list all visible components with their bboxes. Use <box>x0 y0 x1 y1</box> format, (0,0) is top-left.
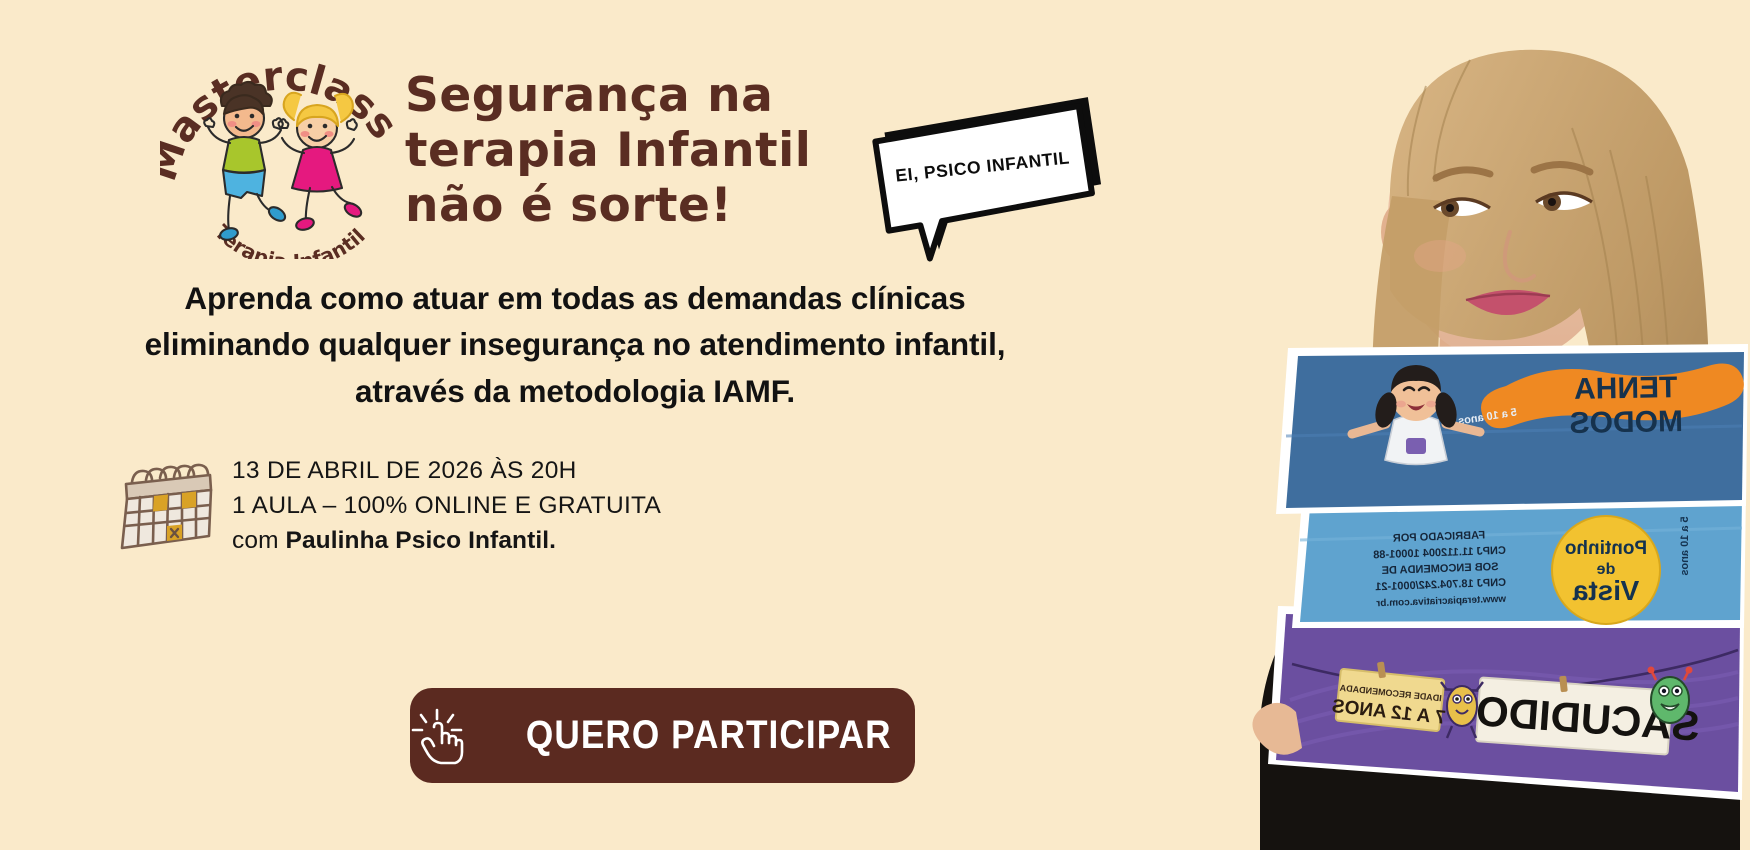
headline-line-3: não é sorte! <box>405 178 875 233</box>
landing-page-banner: Masterclass Terapia Infantil <box>0 0 1750 850</box>
subheading: Aprenda como atuar em todas as demandas … <box>70 275 1080 414</box>
cta-label: QUERO PARTICIPAR <box>526 713 892 758</box>
tenha-modos-box: TENHA MODOS 5 a 10 anos <box>1276 344 1748 514</box>
svg-text:Vista: Vista <box>1572 575 1639 606</box>
headline-line-1: Segurança na <box>405 68 875 123</box>
event-host: com Paulinha Psico Infantil. <box>232 524 661 559</box>
masterclass-logo: Masterclass Terapia Infantil <box>160 44 410 259</box>
subheading-line-2: eliminando qualquer insegurança no atend… <box>70 321 1080 367</box>
calendar-highlight-cell-1 <box>153 495 168 512</box>
calendar-icon <box>110 460 214 552</box>
page-title: Segurança na terapia Infantil não é sort… <box>405 68 875 233</box>
logo-girl-figure <box>279 93 364 232</box>
woman-holding-game-boxes-photo: IDADE RECOMENDADA 7 A 12 ANOS SACUDIDOS <box>1140 0 1750 850</box>
logo-arc-bottom-text: Terapia Infantil <box>210 220 370 259</box>
svg-text:MODOS: MODOS <box>1569 405 1683 440</box>
svg-text:TENHA: TENHA <box>1574 371 1678 406</box>
event-host-name: Paulinha Psico Infantil. <box>286 527 557 554</box>
subheading-line-1: Aprenda como atuar em todas as demandas … <box>70 275 1080 321</box>
subheading-line-3: através da metodologia IAMF. <box>70 368 1080 414</box>
svg-text:Pontinho: Pontinho <box>1565 538 1647 559</box>
quero-participar-button[interactable]: QUERO PARTICIPAR <box>410 688 915 783</box>
event-host-prefix: com <box>232 527 286 554</box>
calendar-highlight-cell-2 <box>182 492 196 509</box>
pontinho-badge: Pontinho de Vista <box>1552 516 1660 624</box>
speech-bubble: EI, PSICO INFANTIL <box>868 104 1108 256</box>
event-date: 13 DE ABRIL DE 2026 ÀS 20H <box>232 454 661 489</box>
event-details: 13 DE ABRIL DE 2026 ÀS 20H 1 AULA – 100%… <box>110 452 661 558</box>
click-hand-icon <box>409 706 465 766</box>
headline-line-2: terapia Infantil <box>405 123 875 178</box>
svg-text:5 a 10 anos: 5 a 10 anos <box>1679 516 1691 575</box>
event-format: 1 AULA – 100% ONLINE E GRATUITA <box>232 489 661 524</box>
event-detail-text: 13 DE ABRIL DE 2026 ÀS 20H 1 AULA – 100%… <box>232 452 661 558</box>
